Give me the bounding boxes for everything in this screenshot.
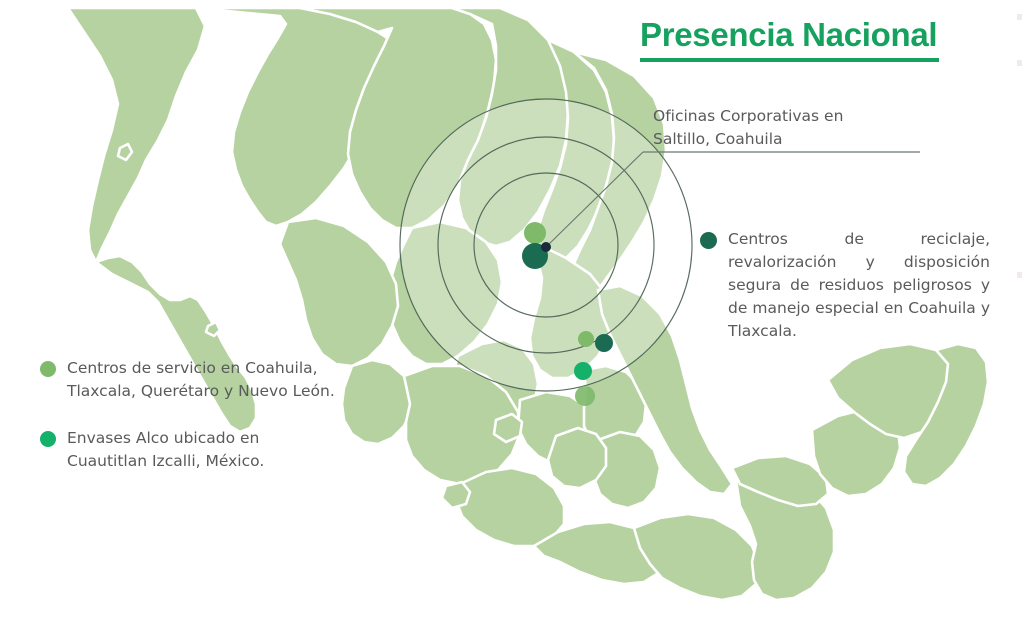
callout-line-1: Oficinas Corporativas en	[653, 105, 933, 128]
state-michoacan	[456, 468, 564, 546]
state-sinaloa	[280, 218, 398, 366]
legend-item-recycling-centers: Centros de reciclaje, revalorización y d…	[700, 228, 990, 343]
legend-item-envases-alco: Envases Alco ubicado en Cuautitlan Izcal…	[40, 427, 340, 473]
legend-label-alco: Envases Alco ubicado en Cuautitlan Izcal…	[67, 427, 340, 473]
legend-bullet-alco-icon	[40, 431, 56, 447]
pin-tlaxcala-recycling	[595, 334, 613, 352]
state-oaxaca	[634, 514, 760, 600]
legend-bullet-recycling-icon	[700, 232, 717, 249]
pin-cuautitlan-alco	[574, 362, 592, 380]
state-aguascalientes	[494, 414, 522, 442]
edge-artifact-mid	[1017, 60, 1022, 66]
pin-saltillo-service	[524, 222, 546, 244]
state-colima	[442, 482, 470, 508]
pin-queretaro-service	[578, 331, 594, 347]
title-underline	[640, 58, 939, 62]
state-baja-california-sur	[96, 256, 256, 432]
edge-artifact-top	[1017, 14, 1022, 20]
legend-label-service: Centros de servicio en Coahuila, Tlaxcal…	[67, 357, 340, 403]
presencia-nacional-slide: Presencia Nacional Oficinas Corporativas…	[0, 0, 1024, 640]
state-baja-california	[68, 8, 205, 262]
pin-saltillo-office	[541, 242, 551, 252]
page-title-block: Presencia Nacional	[640, 14, 950, 62]
page-title: Presencia Nacional	[640, 14, 950, 56]
legend-bullet-service-icon	[40, 361, 56, 377]
legend-label-recycling: Centros de reciclaje, revalorización y d…	[728, 228, 990, 343]
pin-nuevoleon-service	[575, 386, 595, 406]
edge-artifact-low	[1017, 272, 1022, 278]
callout-line-2: Saltillo, Coahuila	[653, 128, 933, 151]
callout-corporate-offices: Oficinas Corporativas en Saltillo, Coahu…	[653, 105, 933, 151]
state-nayarit	[342, 360, 412, 444]
state-estado-de-mexico	[548, 428, 606, 488]
legend-item-service-centers: Centros de servicio en Coahuila, Tlaxcal…	[40, 357, 340, 403]
